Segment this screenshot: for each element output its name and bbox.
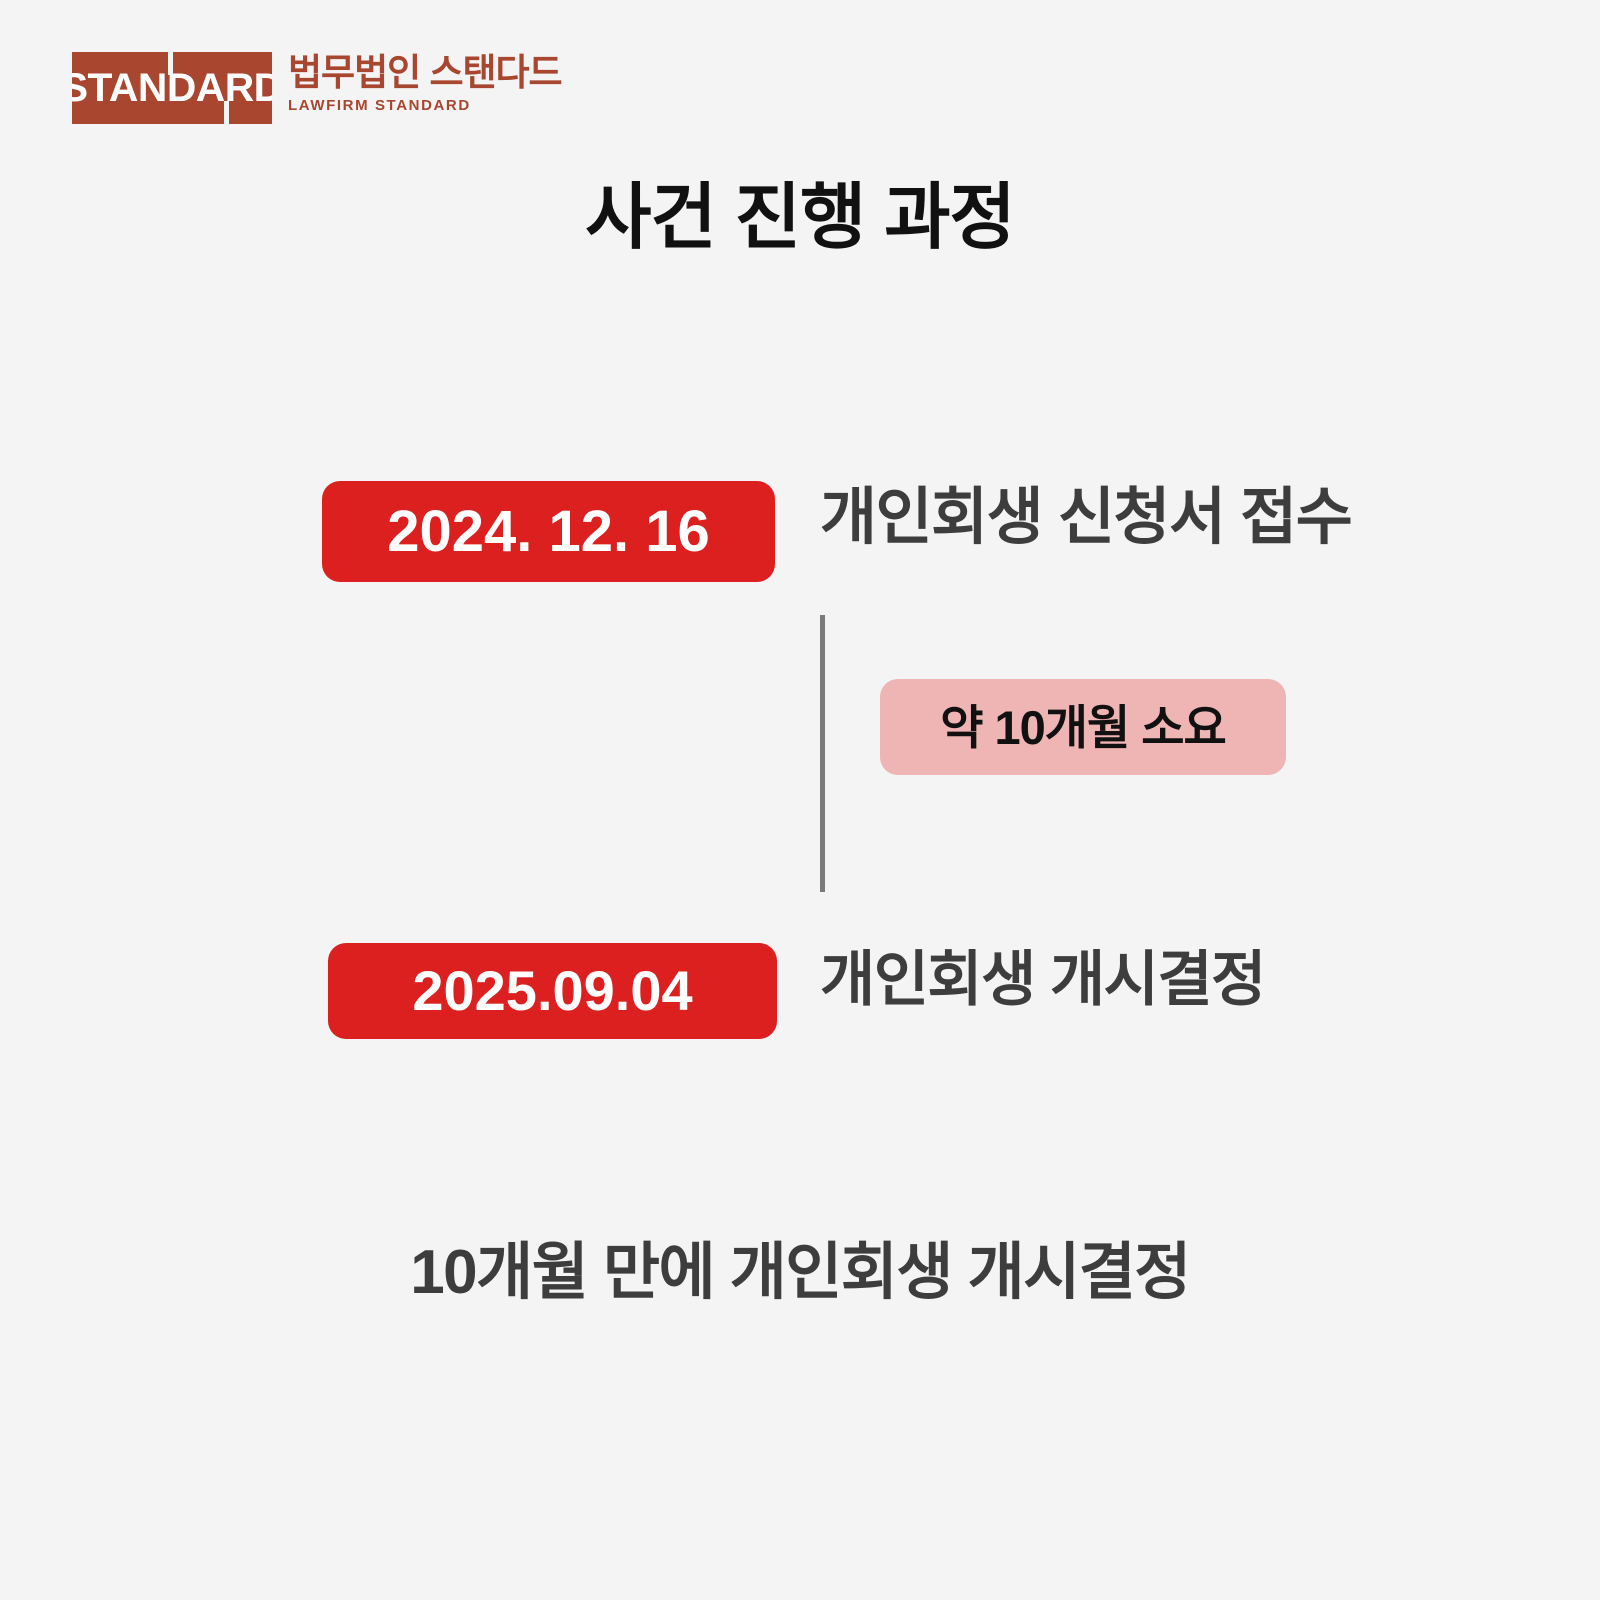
timeline-duration-badge: 약 10개월 소요 [880, 679, 1286, 775]
logo-notch-top-icon [168, 52, 173, 75]
timeline-date-badge-1: 2024. 12. 16 [322, 481, 775, 582]
timeline-event-label-2: 개인회생 개시결정 [820, 950, 1265, 1010]
timeline: 2024. 12. 16 개인회생 신청서 접수 약 10개월 소요 2025.… [0, 0, 1600, 1600]
timeline-event-label-1: 개인회생 신청서 접수 [820, 487, 1351, 549]
timeline-date-badge-2: 2025.09.04 [328, 943, 777, 1039]
summary-text: 10개월 만에 개인회생 개시결정 [0, 1242, 1600, 1304]
timeline-connector-line [820, 615, 825, 892]
logo-notch-bottom-icon [224, 101, 229, 124]
